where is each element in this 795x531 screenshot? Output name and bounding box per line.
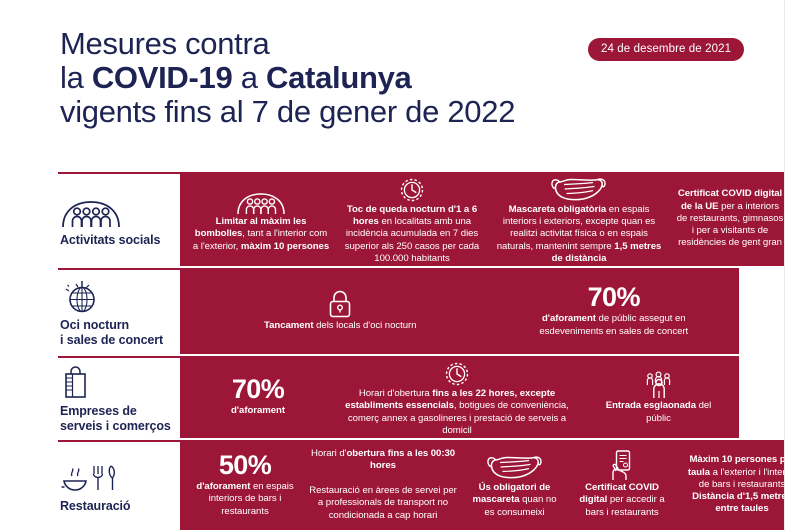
percentage-value: 50%: [219, 452, 271, 479]
row-label-line-1: Oci nocturn: [60, 318, 129, 332]
clock-icon: [399, 173, 425, 203]
infographic-page: Mesures contra la COVID-19 a Catalunya v…: [0, 0, 795, 531]
row-top-rule: [58, 268, 180, 270]
row-label-text: Restauració: [60, 499, 130, 513]
row-label-line-2: serveis i comerços: [60, 419, 171, 433]
measure-text: Certificat COVID digital per accedir a b…: [572, 482, 672, 519]
measure-text: Horari d'obertura fins a les 22 hores, e…: [340, 388, 575, 437]
row-measures-empreses: 70% d'aforament Horari d'obertura fins a…: [180, 356, 739, 438]
measure-text: Horari d'obertura fins a les 00:30 hores…: [309, 448, 457, 522]
face-mask-icon: [551, 173, 607, 203]
measure-mascareta-obligatoria: Mascareta obligatòria en espais interior…: [488, 173, 670, 265]
mobile-certificate-icon: [608, 451, 636, 481]
row-measures-activitats-socials: Limitar al màxim les bombolles, tant a l…: [180, 172, 795, 266]
row-label-text: Oci nocturn i sales de concert: [60, 318, 163, 347]
percentage-value: 70%: [232, 376, 284, 403]
title-line-2-mid: a: [232, 60, 266, 95]
row-label-line-2: i sales de concert: [60, 333, 163, 347]
measure-horari-obertura-22h: Horari d'obertura fins a les 22 hores, e…: [335, 357, 580, 437]
measure-certificat-covid-digital: Certificat COVID digital per accedir a b…: [567, 451, 677, 519]
measure-70-aforament-comercos: 70% d'aforament: [191, 376, 326, 417]
measure-text: Entrada esglaonada del públic: [594, 400, 724, 425]
measure-text: Mascareta obligatòria en espais interior…: [493, 204, 665, 265]
measure-toc-de-queda: Toc de queda nocturn d'1 a 6 hores en lo…: [336, 173, 488, 265]
row-label-line-1: Empreses de: [60, 404, 137, 418]
measure-text: d'aforament de públic assegut en esdeven…: [519, 313, 709, 338]
clock-icon: [444, 357, 470, 387]
measure-us-obligatori-mascareta: Ús obligatori de mascareta quan no es co…: [462, 451, 567, 519]
row-label-text: Empreses de serveis i comerços: [60, 404, 171, 433]
row-top-rule: [58, 440, 180, 442]
people-group-icon: [236, 185, 286, 215]
row-label-oci-nocturn: Oci nocturn i sales de concert: [58, 268, 180, 354]
row-label-empreses: Empreses de serveis i comerços: [58, 356, 180, 438]
title-line-2-bold-catalunya: Catalunya: [266, 60, 411, 95]
measure-maxim-10-persones-taula: Màxim 10 persones per taula a l'exterior…: [677, 454, 795, 515]
queue-people-icon: [639, 369, 679, 399]
row-top-rule: [58, 356, 180, 358]
date-badge: 24 de desembre de 2021: [588, 38, 744, 61]
measure-text: Màxim 10 persones per taula a l'exterior…: [682, 454, 795, 515]
page-right-margin: [784, 0, 795, 531]
measures-table: Activitats socials: [58, 172, 739, 531]
table-row-restauracio: Restauració 50% d'aforament en espais in…: [58, 440, 739, 530]
cutlery-icon: [60, 460, 118, 494]
padlock-icon: [326, 289, 354, 319]
measure-text: d'aforament: [231, 405, 285, 417]
row-measures-oci-nocturn: Tancament dels locals d'oci nocturn 70% …: [180, 268, 739, 354]
row-measures-restauracio: 50% d'aforament en espais interiors de b…: [180, 440, 795, 530]
row-label-line-1: Restauració: [60, 499, 130, 513]
measure-certificat-covid-ue: Certificat COVID digital de la UE per a …: [670, 188, 790, 249]
title-line-2-pre: la: [60, 60, 92, 95]
people-group-icon: [60, 194, 122, 228]
table-row-empreses-serveis-comercos: Empreses de serveis i comerços 70% d'afo…: [58, 356, 739, 438]
table-row-oci-nocturn: Oci nocturn i sales de concert Tancamen: [58, 268, 739, 354]
row-top-rule: [58, 172, 180, 174]
table-row-activitats-socials: Activitats socials: [58, 172, 739, 266]
title-line-1: Mesures contra: [60, 28, 515, 60]
title-line-3: vigents fins al 7 de gener de 2022: [60, 96, 515, 128]
measure-70-aforament-concerts: 70% d'aforament de públic assegut en esd…: [514, 284, 714, 338]
measure-entrada-esglaonada: Entrada esglaonada del públic: [589, 369, 729, 425]
measure-text: Toc de queda nocturn d'1 a 6 hores en lo…: [341, 204, 483, 265]
measure-limitar-bombolles: Limitar al màxim les bombolles, tant a l…: [186, 185, 336, 253]
row-label-activitats-socials: Activitats socials: [58, 172, 180, 266]
title-line-2-bold-covid: COVID-19: [92, 60, 233, 95]
measure-50-aforament-restauracio: 50% d'aforament en espais interiors de b…: [186, 452, 304, 518]
shopping-bag-icon: [60, 365, 92, 399]
title-line-2: la COVID-19 a Catalunya: [60, 62, 515, 94]
measure-tancament-locals: Tancament dels locals d'oci nocturn: [205, 289, 475, 332]
row-label-restauracio: Restauració: [58, 440, 180, 530]
measure-horari-obertura-0030: Horari d'obertura fins a les 00:30 hores…: [304, 448, 462, 522]
measure-text: Limitar al màxim les bombolles, tant a l…: [191, 216, 331, 253]
face-mask-icon: [487, 451, 543, 481]
row-label-line-1: Activitats socials: [60, 233, 160, 247]
measure-text: Tancament dels locals d'oci nocturn: [264, 320, 416, 332]
row-label-text: Activitats socials: [60, 233, 160, 247]
percentage-value: 70%: [588, 284, 640, 311]
measure-text: d'aforament en espais interiors de bars …: [191, 481, 299, 518]
measure-text: Certificat COVID digital de la UE per a …: [675, 188, 785, 249]
page-title: Mesures contra la COVID-19 a Catalunya v…: [60, 28, 515, 130]
disco-ball-icon: [60, 279, 104, 313]
header: Mesures contra la COVID-19 a Catalunya v…: [0, 0, 795, 165]
measure-text: Ús obligatori de mascareta quan no es co…: [467, 482, 562, 519]
